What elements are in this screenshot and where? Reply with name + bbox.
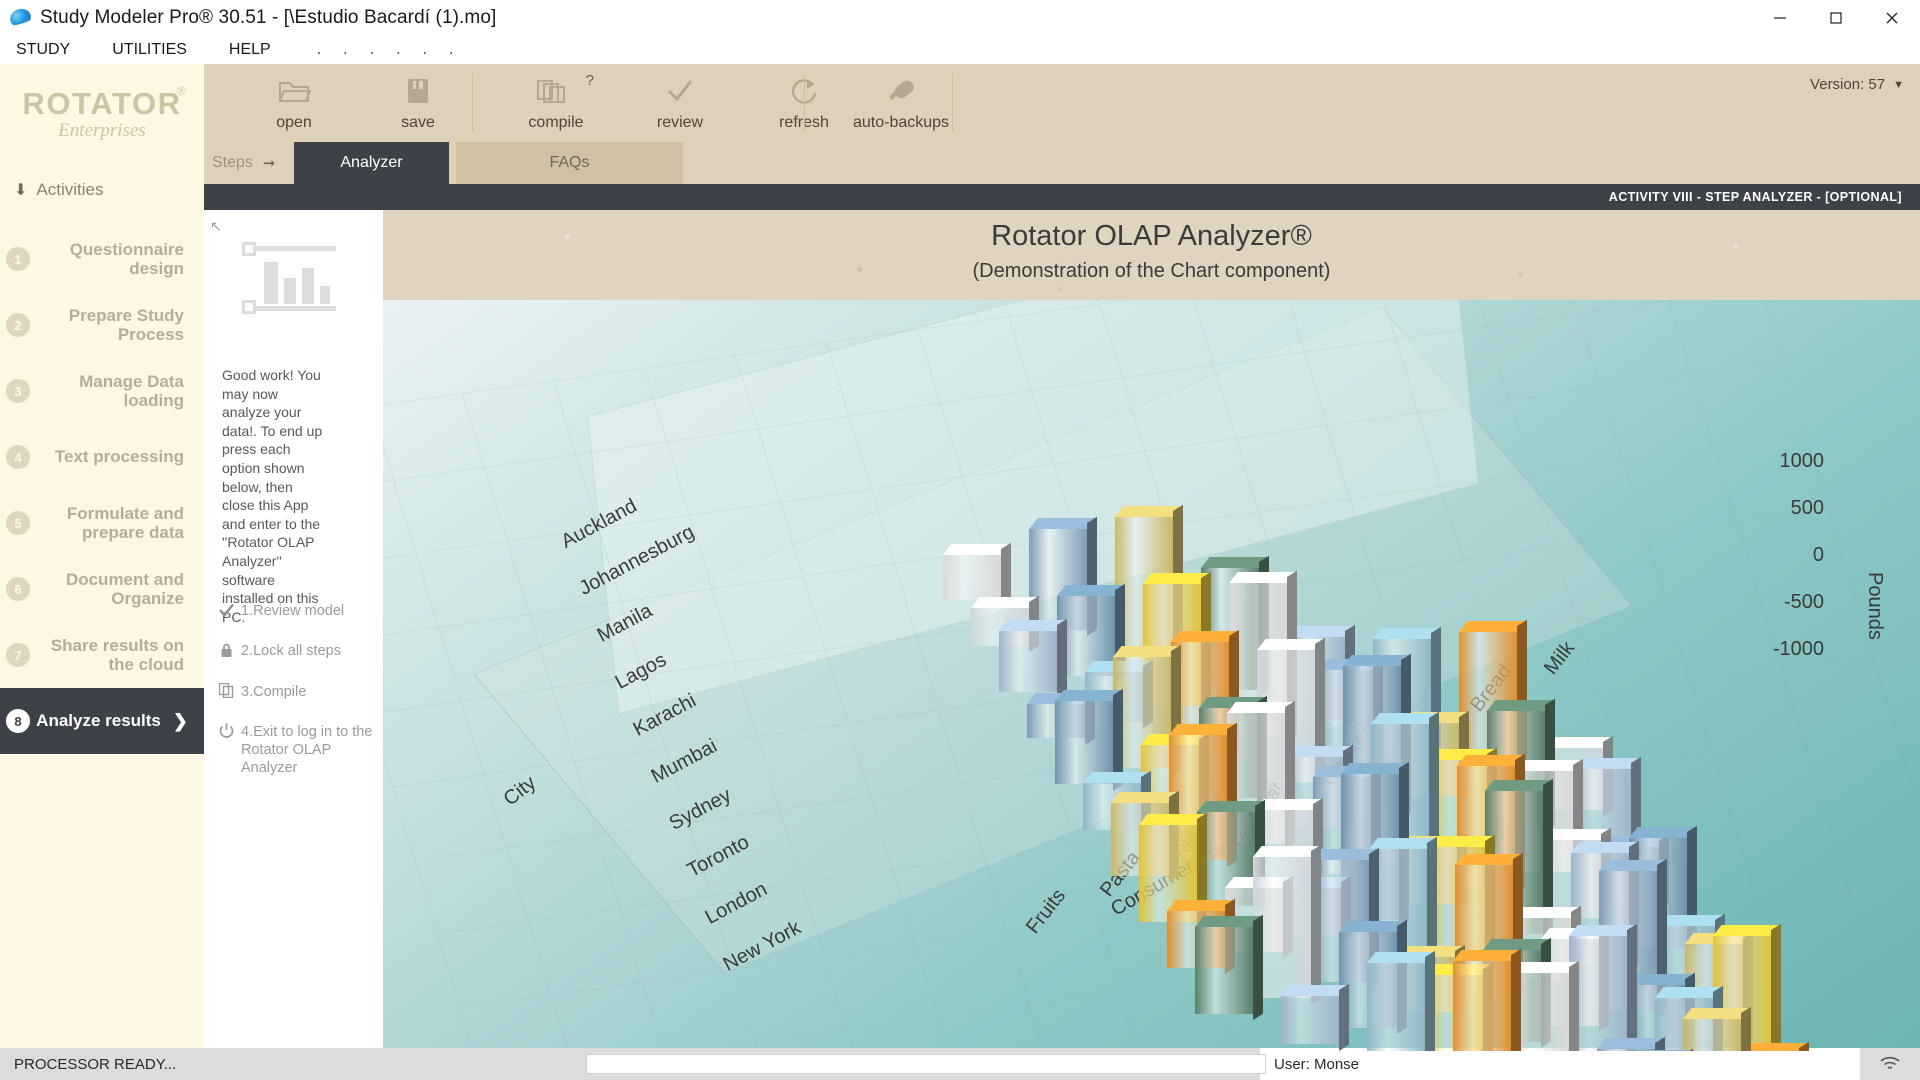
app-logo-icon	[8, 5, 34, 31]
chart-bar	[1453, 950, 1511, 1051]
compile-label: compile	[528, 114, 583, 132]
step-badge: 8	[6, 709, 30, 733]
chart-z-tick: 0	[1704, 544, 1824, 567]
sidebar-item-label: Manage Data loading	[36, 372, 188, 410]
lock-icon	[218, 642, 234, 658]
sidebar-item-label: Text processing	[36, 447, 188, 466]
save-button[interactable]: save	[356, 64, 480, 142]
sidebar-item-label: Questionnaire design	[36, 240, 188, 278]
chart-area: Rotator OLAP Analyzer® (Demonstration of…	[383, 210, 1920, 1051]
chart-bar	[1195, 916, 1253, 1014]
chevron-down-icon: ▼	[1893, 79, 1904, 91]
sidebar-item-analyze-results[interactable]: 8 Analyze results ❯	[0, 688, 204, 754]
step-label: 1.Review model	[241, 602, 378, 620]
toolbar-divider	[804, 74, 805, 132]
step-badge: 1	[6, 247, 30, 271]
step-compile[interactable]: 3.Compile	[218, 683, 378, 701]
tab-faqs-label: FAQs	[549, 154, 589, 172]
chart-bar	[999, 620, 1057, 692]
activity-banner: ACTIVITY VIII - STEP ANALYZER - [OPTIONA…	[204, 184, 1920, 210]
maximize-icon[interactable]	[1808, 0, 1864, 36]
window-controls	[1752, 0, 1920, 36]
usb-drive-icon	[884, 74, 918, 108]
chart-bar	[1281, 985, 1339, 1045]
folder-icon	[277, 74, 311, 108]
minimize-icon[interactable]	[1752, 0, 1808, 36]
title-bar: Study Modeler Pro® 30.51 - [\Estudio Bac…	[0, 0, 1920, 36]
chart-bar	[1683, 1008, 1741, 1051]
steps-label: Steps	[212, 154, 253, 172]
version-label: Version: 57	[1810, 76, 1885, 93]
open-button[interactable]: open	[232, 64, 356, 142]
menu-item-utilities[interactable]: UTILITIES	[110, 39, 205, 61]
user-status: User: Monse	[1260, 1048, 1860, 1080]
sidebar-item-label: Document and Organize	[36, 570, 188, 608]
sidebar-item-label: Share results on the cloud	[36, 636, 188, 674]
sidebar: ® ROTATOR Enterprises ⬇ Activities 1 Que…	[0, 64, 204, 1051]
resize-handle-icon[interactable]: ↖	[210, 218, 222, 235]
sidebar-item-prepare-study-process[interactable]: 2 Prepare Study Process	[0, 292, 204, 358]
tab-faqs[interactable]: FAQs	[456, 142, 683, 184]
progress-bar	[586, 1054, 1266, 1074]
check-icon	[218, 602, 234, 618]
version-selector[interactable]: Version: 57 ▼	[1810, 76, 1904, 93]
step-review-model[interactable]: 1.Review model	[218, 602, 378, 620]
sidebar-item-label: Prepare Study Process	[36, 306, 188, 344]
chart-subtitle: (Demonstration of the Chart component)	[383, 260, 1920, 283]
chart-z-tick: 500	[1704, 497, 1824, 520]
arrow-right-icon: ➞	[263, 154, 276, 172]
chart-z-axis-title: Pounds	[1863, 572, 1886, 640]
step-lock-all-steps[interactable]: 2.Lock all steps	[218, 642, 378, 660]
step-badge: 2	[6, 313, 30, 337]
compile-button[interactable]: ? compile	[494, 64, 618, 142]
toolbar-divider	[472, 74, 473, 132]
check-icon	[665, 74, 695, 108]
step-badge: 5	[6, 511, 30, 535]
compile-help-badge[interactable]: ?	[586, 72, 594, 89]
sidebar-item-manage-data-loading[interactable]: 3 Manage Data loading	[0, 358, 204, 424]
sidebar-item-text-processing[interactable]: 4 Text processing	[0, 424, 204, 490]
chart-z-tick: 1000	[1704, 450, 1824, 473]
down-arrow-icon: ⬇	[14, 180, 27, 200]
chart-bar	[1055, 690, 1113, 785]
toolbar-divider	[952, 74, 953, 132]
menu-item-study[interactable]: STUDY	[14, 39, 88, 61]
chart-bar	[1597, 1038, 1655, 1052]
chart-title: Rotator OLAP Analyzer®	[383, 220, 1920, 253]
auto-backups-button[interactable]: auto-backups	[806, 64, 996, 142]
tab-analyzer[interactable]: Analyzer	[294, 142, 449, 184]
sidebar-item-label: Analyze results	[36, 711, 165, 730]
processor-status: PROCESSOR READY...	[0, 1048, 580, 1080]
step-label: 2.Lock all steps	[241, 642, 378, 660]
toolbar: open save ? compile	[204, 64, 1920, 142]
info-panel-body: Good work! You may now analyze your data…	[222, 366, 326, 627]
floppy-disk-icon	[405, 74, 431, 108]
info-panel-steps: 1.Review model 2.Lock all steps 3.Compil…	[218, 602, 378, 800]
step-badge: 4	[6, 445, 30, 469]
window-title: Study Modeler Pro® 30.51 - [\Estudio Bac…	[40, 7, 496, 29]
sidebar-item-share-results-on-the-cloud[interactable]: 7 Share results on the cloud	[0, 622, 204, 688]
wifi-icon[interactable]	[1860, 1056, 1920, 1072]
info-panel: ↖ Good work! You may now analyze your da…	[204, 210, 383, 1051]
chart-z-tick: -1000	[1704, 638, 1824, 661]
menu-bar: STUDY UTILITIES HELP ......	[0, 36, 1920, 64]
chart-bar	[1367, 952, 1425, 1052]
copy-stack-icon	[536, 74, 576, 108]
chart-bar	[1625, 1050, 1683, 1051]
sidebar-item-formulate-and-prepare-data[interactable]: 5 Formulate and prepare data	[0, 490, 204, 556]
step-label: 3.Compile	[241, 683, 378, 701]
brand-block: ® ROTATOR Enterprises	[0, 64, 204, 142]
chart-plot[interactable]: 10005000-500-1000 Pounds AucklandJohanne…	[383, 300, 1920, 1051]
chart-placeholder-icon	[240, 238, 336, 320]
activities-header[interactable]: ⬇ Activities	[0, 180, 204, 200]
sidebar-nav: 1 Questionnaire design 2 Prepare Study P…	[0, 226, 204, 754]
activities-label: Activities	[36, 180, 103, 200]
brand-name: ROTATOR	[0, 86, 204, 122]
sidebar-item-document-and-organize[interactable]: 6 Document and Organize	[0, 556, 204, 622]
menu-item-help[interactable]: HELP	[227, 39, 289, 61]
review-label: review	[657, 114, 703, 132]
step-badge: 6	[6, 577, 30, 601]
auto-backups-label: auto-backups	[853, 114, 949, 132]
save-label: save	[401, 114, 435, 132]
close-icon[interactable]	[1864, 0, 1920, 36]
menu-overflow-dots: ......	[317, 46, 454, 54]
review-button[interactable]: review	[618, 64, 742, 142]
progress-area	[580, 1048, 1260, 1080]
tab-analyzer-label: Analyzer	[340, 154, 402, 172]
tabs-row: Steps ➞ Analyzer FAQs	[204, 142, 1920, 184]
step-badge: 7	[6, 643, 30, 667]
status-bar: PROCESSOR READY... User: Monse	[0, 1048, 1920, 1080]
copy-icon	[218, 683, 234, 699]
chevron-right-icon: ❯	[173, 711, 188, 732]
power-icon	[218, 723, 234, 739]
step-label: 4.Exit to log in to the Rotator OLAP Ana…	[241, 723, 378, 778]
step-exit-to-analyzer[interactable]: 4.Exit to log in to the Rotator OLAP Ana…	[218, 723, 378, 778]
brand-subtitle: Enterprises	[0, 120, 204, 142]
application-window: Study Modeler Pro® 30.51 - [\Estudio Bac…	[0, 0, 1920, 1080]
brand-registered-mark: ®	[177, 84, 186, 98]
sidebar-item-questionnaire-design[interactable]: 1 Questionnaire design	[0, 226, 204, 292]
steps-indicator: Steps ➞	[204, 142, 294, 184]
chart-bar	[943, 544, 1001, 600]
step-badge: 3	[6, 379, 30, 403]
open-label: open	[276, 114, 312, 132]
chart-z-tick: -500	[1704, 591, 1824, 614]
sidebar-item-label: Formulate and prepare data	[36, 504, 188, 542]
